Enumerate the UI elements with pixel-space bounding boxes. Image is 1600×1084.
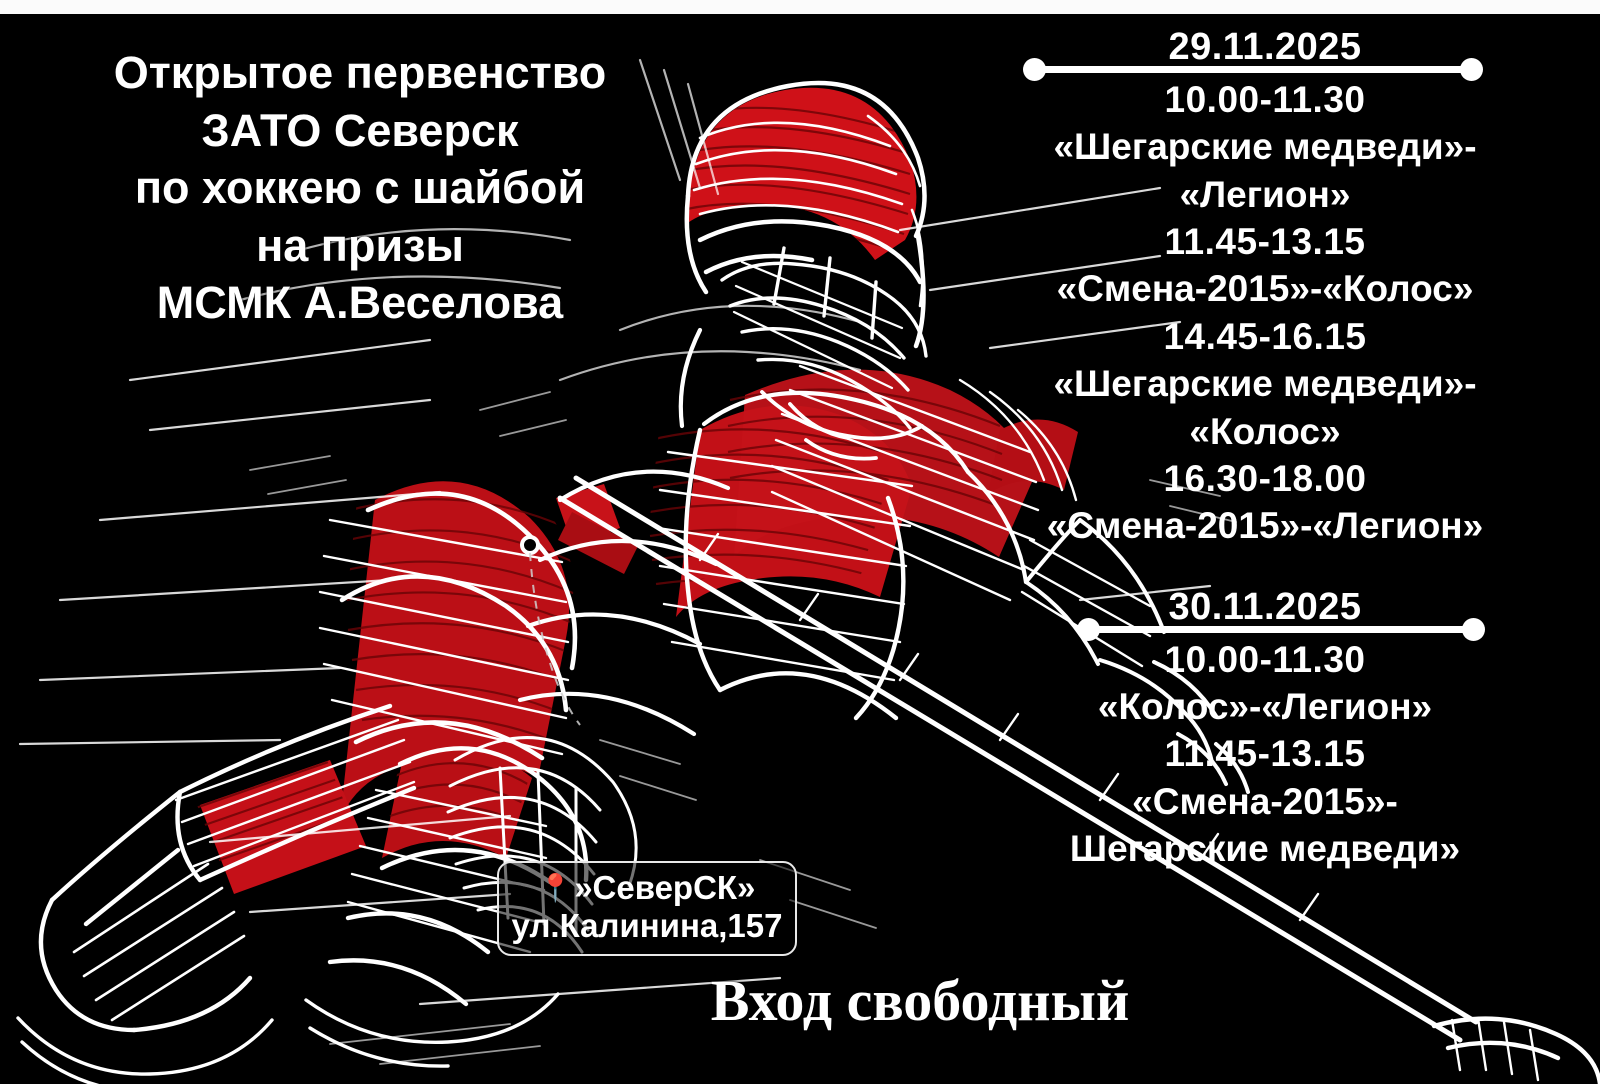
slot-time-1-2: 11.45-13.15 bbox=[955, 218, 1575, 265]
schedule-panel: 29.11.2025 10.00-11.30 «Шегарские медвед… bbox=[955, 24, 1575, 872]
puck-marker bbox=[522, 537, 538, 553]
page-title: Открытое первенство ЗАТО Северск по хокк… bbox=[40, 44, 680, 332]
schedule-day-2: 30.11.2025 10.00-11.30 «Колос»-«Легион» … bbox=[955, 584, 1575, 873]
venue-name-row: 📍»СеверСК» bbox=[509, 869, 785, 907]
top-white-strip bbox=[0, 0, 1600, 14]
date-header-2: 30.11.2025 bbox=[955, 584, 1575, 636]
location-pin-icon: 📍 bbox=[539, 873, 573, 903]
slot-teams-1-2: «Смена-2015»-«Колос» bbox=[955, 265, 1575, 312]
slot-teams-1-1: «Шегарские медведи»- «Легион» bbox=[955, 123, 1575, 218]
slot-teams-2-2: «Смена-2015»- Шегарские медведи» bbox=[955, 778, 1575, 873]
venue-box: 📍»СеверСК» ул.Калинина,157 bbox=[497, 861, 797, 956]
slot-teams-1-3: «Шегарские медведи»- «Колос» bbox=[955, 360, 1575, 455]
slot-teams-1-4: «Смена-2015»-«Легион» bbox=[955, 502, 1575, 549]
venue-address: ул.Калинина,157 bbox=[509, 907, 785, 945]
date-label-2: 30.11.2025 bbox=[955, 584, 1575, 630]
slot-time-1-3: 14.45-16.15 bbox=[955, 313, 1575, 360]
date-header-1: 29.11.2025 bbox=[955, 24, 1575, 76]
poster-root: Открытое первенство ЗАТО Северск по хокк… bbox=[0, 0, 1600, 1084]
free-entry-label: Вход свободный bbox=[600, 967, 1240, 1034]
slot-time-1-4: 16.30-18.00 bbox=[955, 455, 1575, 502]
slot-time-1-1: 10.00-11.30 bbox=[955, 76, 1575, 123]
schedule-day-1: 29.11.2025 10.00-11.30 «Шегарские медвед… bbox=[955, 24, 1575, 550]
slot-time-2-2: 11.45-13.15 bbox=[955, 730, 1575, 777]
date-label-1: 29.11.2025 bbox=[955, 24, 1575, 70]
venue-name: »СеверСК» bbox=[574, 869, 755, 906]
slot-teams-2-1: «Колос»-«Легион» bbox=[955, 683, 1575, 730]
slot-time-2-1: 10.00-11.30 bbox=[955, 636, 1575, 683]
